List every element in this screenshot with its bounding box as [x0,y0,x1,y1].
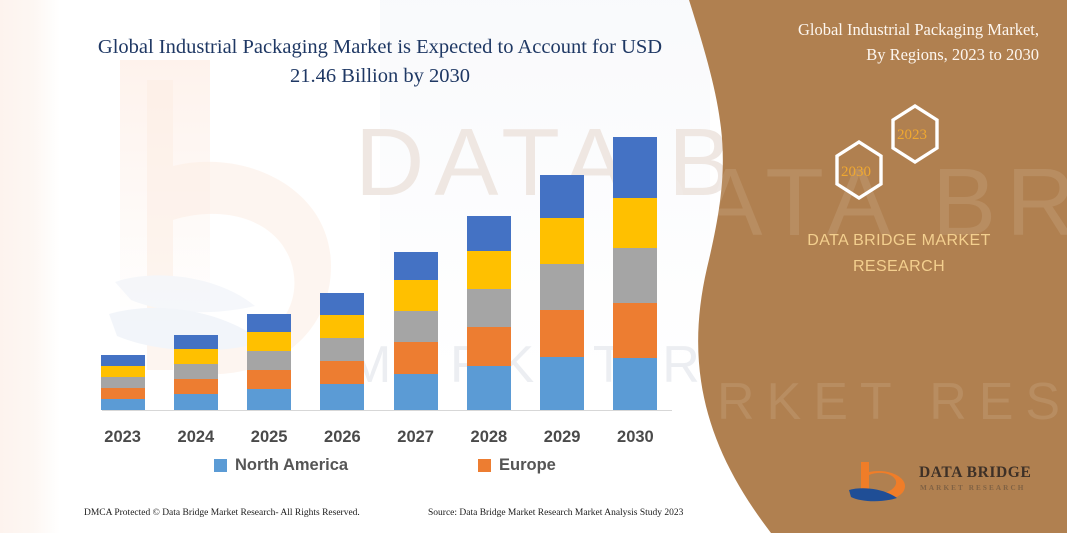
bar-segment [467,289,511,327]
bar-segment [394,280,438,311]
bar-segment [101,399,145,410]
bar-segment [540,264,584,310]
x-axis-tick-2024: 2024 [161,428,231,447]
legend-item-north-america[interactable]: North America [214,456,348,475]
bar-2026 [320,293,364,410]
bar-segment [320,315,364,338]
right-panel: DATA BRIDGE MARKET RESEARCH Global Indus… [667,0,1067,533]
x-axis-tick-2027: 2027 [381,428,451,447]
brand-logo-tagline: MARKET RESEARCH [920,484,1025,492]
bar-segment [247,351,291,370]
bar-2023 [101,355,145,410]
bar-segment [174,394,218,410]
legend-swatch-icon [214,459,227,472]
bar-segment [613,303,657,358]
chart-legend: North AmericaEurope [86,456,672,480]
bar-segment [101,377,145,388]
panel-title-line-1: Global Industrial Packaging Market, [719,18,1039,43]
bar-segment [320,384,364,410]
bar-segment [101,366,145,377]
bar-segment [174,335,218,349]
legend-label: North America [235,456,348,475]
bar-segment [174,364,218,379]
x-axis-tick-2028: 2028 [454,428,524,447]
footer: DMCA Protected © Data Bridge Market Rese… [0,508,700,530]
bar-segment [613,137,657,198]
bar-2025 [247,314,291,410]
bar-segment [540,310,584,357]
bar-segment [467,251,511,289]
x-axis-tick-2025: 2025 [234,428,304,447]
bar-segment [394,311,438,342]
brand-mark-icon [847,460,915,508]
footer-copyright: DMCA Protected © Data Bridge Market Rese… [84,508,360,518]
bar-segment [320,293,364,315]
bar-segment [613,358,657,410]
bar-segment [394,374,438,410]
bar-segment [540,175,584,218]
bar-segment [394,342,438,374]
hexagon-group: 2030 2023 [807,92,1007,202]
bar-2029 [540,175,584,410]
hexagon-shapes-icon [807,92,1007,202]
footer-source: Source: Data Bridge Market Research Mark… [428,508,683,518]
chart-x-axis: 20232024202520262027202820292030 [86,428,672,454]
bar-2030 [613,137,657,410]
hexagon-label-2030: 2030 [841,164,871,181]
background-tint-left [0,0,60,533]
panel-brand-line-2: RESEARCH [769,254,1029,280]
infographic-canvas: DATA BRIDGE MARKET RESEARCH Global Indus… [0,0,1067,533]
hexagon-label-2023: 2023 [897,127,927,144]
bar-segment [320,361,364,384]
bar-segment [247,370,291,389]
x-axis-tick-2029: 2029 [527,428,597,447]
bar-segment [247,332,291,351]
panel-title-line-2: By Regions, 2023 to 2030 [719,43,1039,68]
bar-segment [467,216,511,251]
panel-brand-line-1: DATA BRIDGE MARKET [769,228,1029,254]
bar-2028 [467,216,511,410]
bar-2027 [394,252,438,410]
bar-segment [101,388,145,399]
chart-baseline [102,410,672,411]
bar-segment [613,198,657,248]
bar-segment [467,366,511,410]
legend-label: Europe [499,456,556,475]
bar-segment [540,357,584,410]
panel-title: Global Industrial Packaging Market, By R… [719,18,1039,68]
x-axis-tick-2030: 2030 [600,428,670,447]
chart-plot-area [86,100,672,416]
legend-item-europe[interactable]: Europe [478,456,556,475]
brand-logo: DATA BRIDGE MARKET RESEARCH [847,456,1047,512]
x-axis-tick-2026: 2026 [307,428,377,447]
bar-segment [467,327,511,366]
panel-brand: DATA BRIDGE MARKET RESEARCH [769,228,1029,280]
bar-segment [540,218,584,264]
page-title: Global Industrial Packaging Market is Ex… [90,33,670,91]
bar-segment [247,389,291,410]
brand-logo-name: DATA BRIDGE [919,464,1031,482]
bar-segment [394,252,438,280]
bar-segment [174,349,218,364]
bar-segment [320,338,364,361]
bar-segment [174,379,218,394]
x-axis-tick-2023: 2023 [88,428,158,447]
bar-segment [101,355,145,366]
legend-swatch-icon [478,459,491,472]
bar-2024 [174,335,218,410]
bar-segment [247,314,291,332]
bar-segment [613,248,657,303]
